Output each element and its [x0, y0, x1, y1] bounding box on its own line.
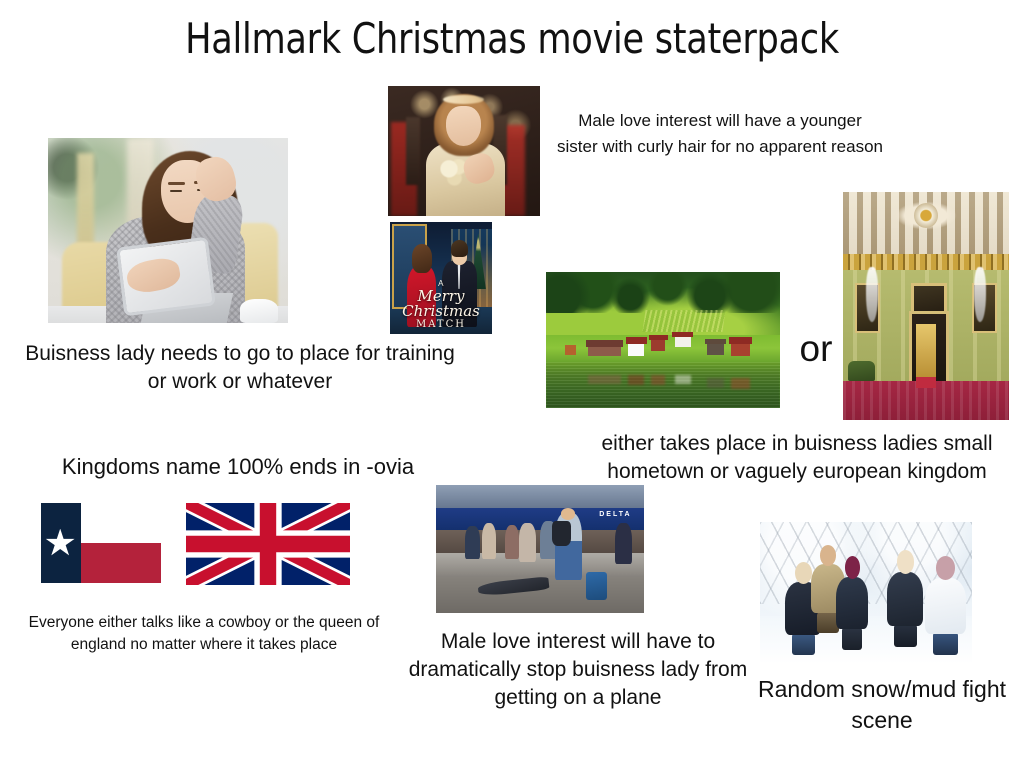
page-title: Hallmark Christmas movie staterpack [36, 16, 988, 62]
delta-signage-text: DELTA [599, 511, 631, 518]
palace-photo [843, 192, 1009, 420]
caption-setting: either takes place in buisness ladies sm… [596, 430, 998, 486]
caption-curly-sister: Male love interest will have a younger s… [556, 108, 884, 159]
caption-accents: Everyone either talks like a cowboy or t… [14, 612, 394, 656]
starter-pack-canvas: Hallmark Christmas movie staterpack Buis… [0, 0, 1024, 768]
union-jack-flag-image [186, 503, 350, 585]
poster-title-line-3: MATCH [390, 320, 492, 331]
village-photo [546, 272, 780, 408]
movie-poster-title: A Merry Christmas MATCH [390, 280, 492, 330]
business-lady-photo [48, 138, 288, 323]
curly-sister-photo [388, 86, 540, 216]
snow-fight-photo [760, 522, 972, 664]
caption-snow-fight: Random snow/mud fight scene [740, 674, 1024, 735]
or-connector-label: or [786, 330, 846, 367]
poster-title-line-2: Merry Christmas [390, 289, 492, 321]
airport-photo: DELTA [436, 485, 644, 613]
union-jack-svg [186, 503, 350, 585]
texas-flag-image [41, 503, 161, 583]
movie-poster-image: A Merry Christmas MATCH [390, 222, 492, 334]
caption-business-lady: Buisness lady needs to go to place for t… [14, 340, 466, 396]
caption-airport: Male love interest will have to dramatic… [400, 628, 756, 712]
caption-kingdom-name: Kingdoms name 100% ends in -ovia [18, 452, 458, 481]
